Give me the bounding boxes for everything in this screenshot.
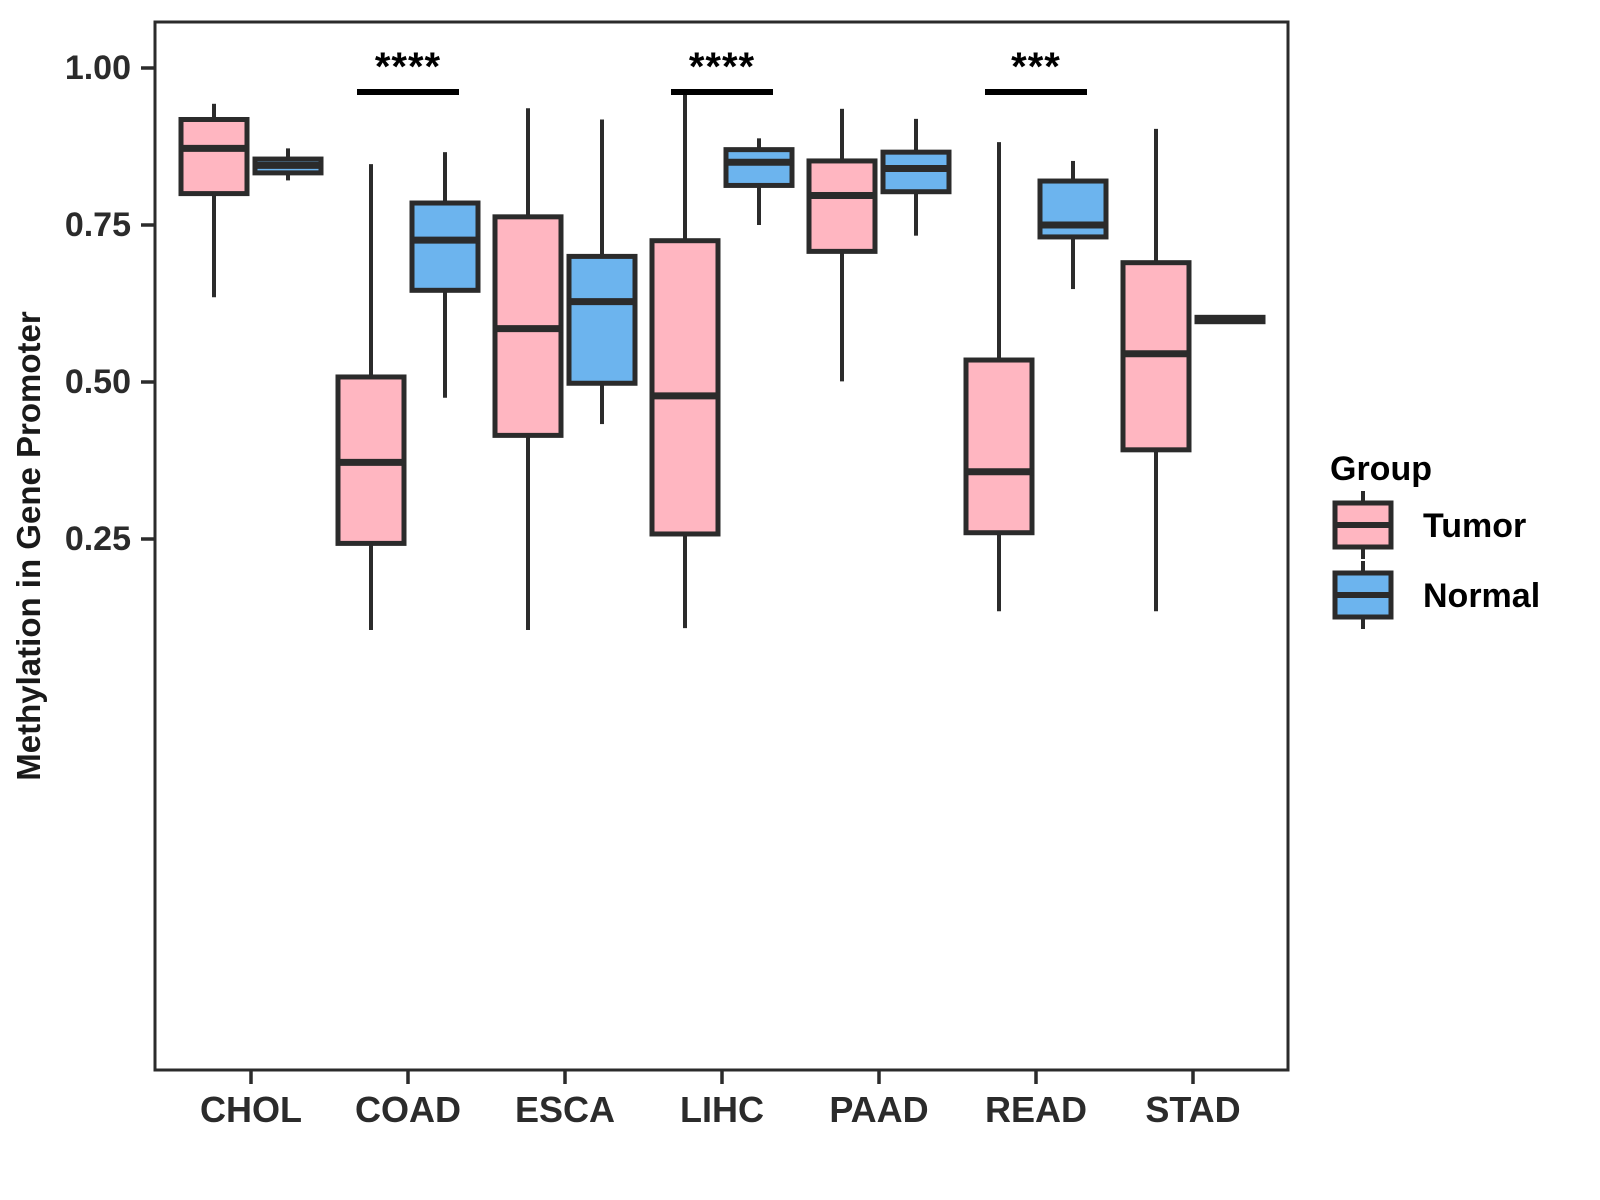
boxplot-figure: 0.250.500.751.00 CHOLCOADESCALIHCPAADREA… [0,0,1600,1200]
y-axis-ticks: 0.250.500.751.00 [65,49,155,558]
significance-label: **** [375,45,441,89]
box-rect [412,203,478,290]
y-axis-title: Methylation in Gene Promoter [10,311,47,781]
y-axis-tick-label: 0.75 [65,206,131,244]
legend-item-normal[interactable]: Normal [1333,561,1540,629]
box-normal-stad [1195,317,1266,321]
y-axis-tick-label: 1.00 [65,49,131,87]
y-axis-tick-label: 0.50 [65,363,131,401]
box-rect [1040,181,1106,237]
box-rect [569,256,635,383]
x-axis-tick-label-esca: ESCA [515,1089,615,1130]
legend-items: TumorNormal [1333,491,1540,629]
x-axis-tick-label-chol: CHOL [200,1089,302,1130]
box-rect [652,241,718,534]
y-axis-tick-label: 0.25 [65,520,131,558]
box-rect [966,360,1032,533]
significance-label: *** [1011,45,1061,89]
x-axis-ticks: CHOLCOADESCALIHCPAADREADSTAD [200,1070,1241,1130]
significance-label: **** [689,45,755,89]
chart-root: 0.250.500.751.00 CHOLCOADESCALIHCPAADREA… [0,0,1600,1200]
legend-item-tumor[interactable]: Tumor [1333,491,1526,559]
box-rect [726,150,792,186]
legend-label-tumor: Tumor [1423,507,1526,545]
legend-title: Group [1330,450,1432,488]
x-axis-tick-label-coad: COAD [355,1089,461,1130]
plot-panel [155,22,1288,1070]
box-rect [181,119,247,193]
x-axis-tick-label-read: READ [985,1089,1087,1130]
x-axis-tick-label-lihc: LIHC [680,1089,764,1130]
x-axis-tick-label-stad: STAD [1145,1089,1240,1130]
legend: Group TumorNormal [1330,450,1540,629]
x-axis-tick-label-paad: PAAD [829,1089,928,1130]
box-rect [809,161,875,251]
legend-label-normal: Normal [1423,577,1540,615]
